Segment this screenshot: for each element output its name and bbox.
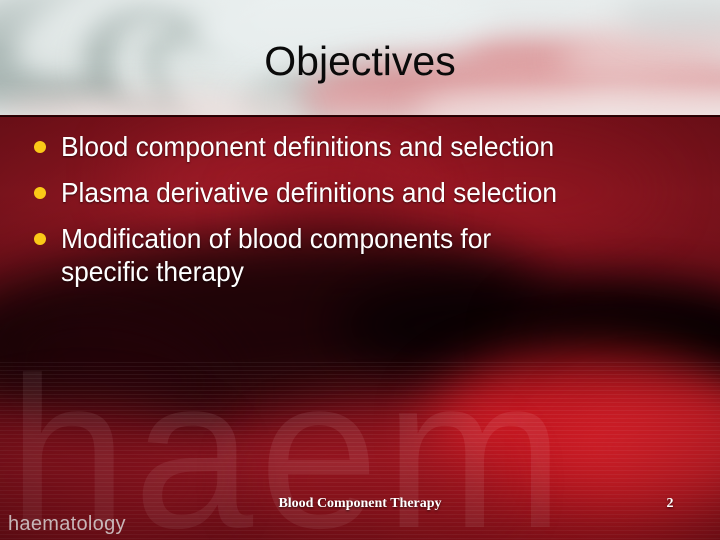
body-highlight <box>250 417 510 540</box>
list-item-label: Blood component definitions and selectio… <box>61 130 554 163</box>
bullet-dot-icon <box>34 187 46 199</box>
slide-footer: Blood Component Therapy <box>0 496 720 512</box>
bullet-dot-icon <box>34 233 46 245</box>
bullet-dot-icon <box>34 141 46 153</box>
brand-watermark: haematology <box>8 512 126 536</box>
slide-header-band: Objectives <box>0 0 720 117</box>
list-item: Modification of blood components for spe… <box>34 222 690 288</box>
page-title: Objectives <box>0 38 720 84</box>
list-item: Blood component definitions and selectio… <box>34 130 690 163</box>
list-item-label: Plasma derivative definitions and select… <box>61 176 557 209</box>
page-number: 2 <box>640 496 700 512</box>
list-item: Plasma derivative definitions and select… <box>34 176 690 209</box>
objectives-bullet-list: Blood component definitions and selectio… <box>34 130 690 301</box>
list-item-label: Modification of blood components for spe… <box>61 222 491 288</box>
presentation-slide: Objectives haem Blood component definiti… <box>0 0 720 540</box>
